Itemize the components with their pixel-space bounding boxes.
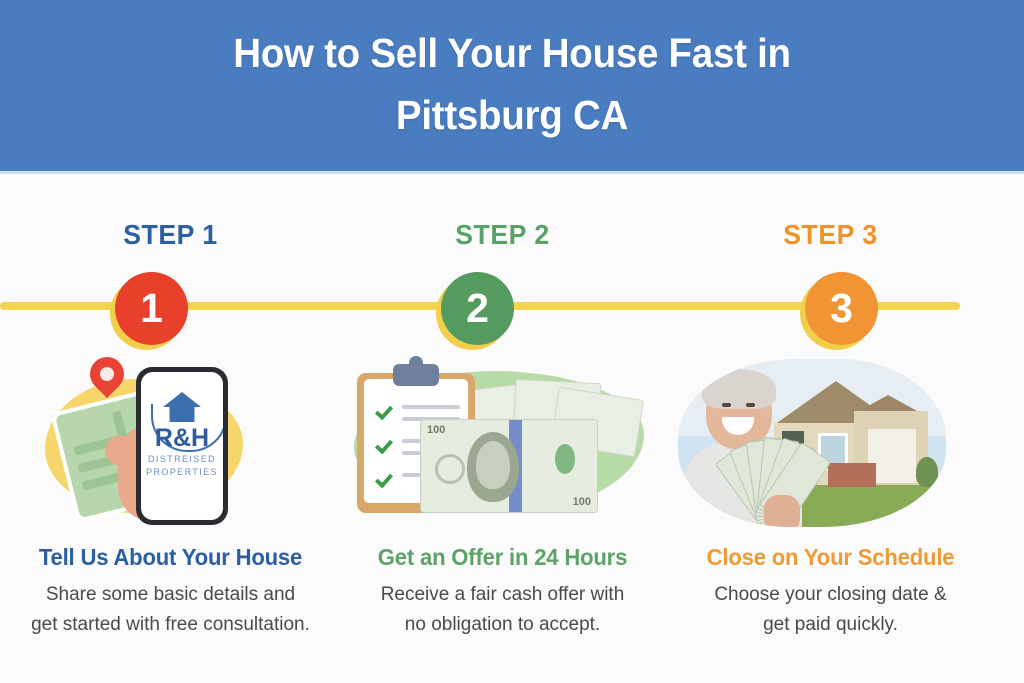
- step-label-2: STEP 2: [341, 219, 665, 251]
- page-title-line-2: Pittsburg CA: [31, 84, 994, 146]
- caption-body-3: Choose your closing date & get paid quic…: [660, 580, 1001, 640]
- caption-title-3: Close on Your Schedule: [667, 544, 994, 571]
- step-bubble-3: 3: [805, 272, 878, 345]
- caption-body-1-line-1: Share some basic details and: [0, 580, 341, 610]
- bill-denomination: 100: [427, 424, 445, 436]
- hundred-dollar-bill: 100 100: [420, 419, 598, 513]
- seller-photo: [678, 359, 946, 527]
- checklist-line: [402, 405, 460, 409]
- caption-body-2-line-2: no obligation to accept.: [332, 610, 673, 640]
- brand-tagline-line-2: PROPERTIES: [141, 467, 223, 477]
- step-column-3: STEP 3 3: [660, 171, 1001, 683]
- checkmark-icon: [374, 435, 393, 454]
- step-label-1: STEP 1: [9, 219, 333, 251]
- caption-body-1-line-2: get started with free consultation.: [0, 610, 341, 640]
- step-caption-2: Get an Offer in 24 Hours Receive a fair …: [332, 544, 673, 640]
- step-bubble-wrap-1: 1: [0, 270, 341, 354]
- caption-title-2: Get an Offer in 24 Hours: [339, 544, 666, 571]
- person-eye: [746, 403, 755, 407]
- step-column-1: STEP 1 1 R&H DISTREI: [0, 171, 341, 683]
- step-caption-1: Tell Us About Your House Share some basi…: [0, 544, 341, 640]
- checkmark-icon: [374, 401, 393, 420]
- infographic-root: How to Sell Your House Fast in Pittsburg…: [0, 0, 1024, 683]
- bill-denomination: 100: [573, 496, 591, 508]
- bush-shape: [916, 457, 938, 487]
- house-roof-icon: [163, 392, 201, 407]
- step-illustration-1: R&H DISTREISED PROPERTIES: [0, 351, 341, 531]
- page-title-line-1: How to Sell Your House Fast in: [31, 22, 994, 84]
- brand-tagline-line-1: DISTREISED: [141, 454, 223, 464]
- caption-body-3-line-1: Choose your closing date &: [660, 580, 1001, 610]
- step-bubble-2: 2: [441, 272, 514, 345]
- bill-portrait: [467, 432, 519, 502]
- caption-title-1: Tell Us About Your House: [7, 544, 334, 571]
- step-bubble-1: 1: [115, 272, 188, 345]
- bill-seal: [435, 454, 465, 484]
- phone-screen: R&H DISTREISED PROPERTIES: [141, 372, 223, 520]
- page-title: How to Sell Your House Fast in Pittsburg…: [31, 22, 994, 146]
- caption-body-1: Share some basic details and get started…: [0, 580, 341, 640]
- brand-logo-text: R&H: [141, 424, 223, 453]
- bill-ink-oval: [555, 444, 575, 474]
- caption-body-3-line-2: get paid quickly.: [660, 610, 1001, 640]
- step-illustration-3: [660, 351, 1001, 531]
- caption-body-2: Receive a fair cash offer with no obliga…: [332, 580, 673, 640]
- brick-facade: [828, 463, 876, 487]
- step-illustration-2: 100 100: [332, 351, 673, 531]
- smartphone-icon: R&H DISTREISED PROPERTIES: [136, 367, 228, 525]
- step-bubble-wrap-3: 3: [660, 270, 1001, 354]
- step-bubble-wrap-2: 2: [332, 270, 673, 354]
- clipboard-clip-knob: [409, 356, 423, 370]
- person-hand: [764, 495, 800, 527]
- step-caption-3: Close on Your Schedule Choose your closi…: [660, 544, 1001, 640]
- checkmark-icon: [374, 469, 393, 488]
- person-hair: [702, 369, 776, 409]
- person-eye: [722, 403, 731, 407]
- step-label-3: STEP 3: [669, 219, 993, 251]
- caption-body-2-line-1: Receive a fair cash offer with: [332, 580, 673, 610]
- step-column-2: STEP 2 2: [332, 171, 673, 683]
- house-body-icon: [170, 406, 195, 422]
